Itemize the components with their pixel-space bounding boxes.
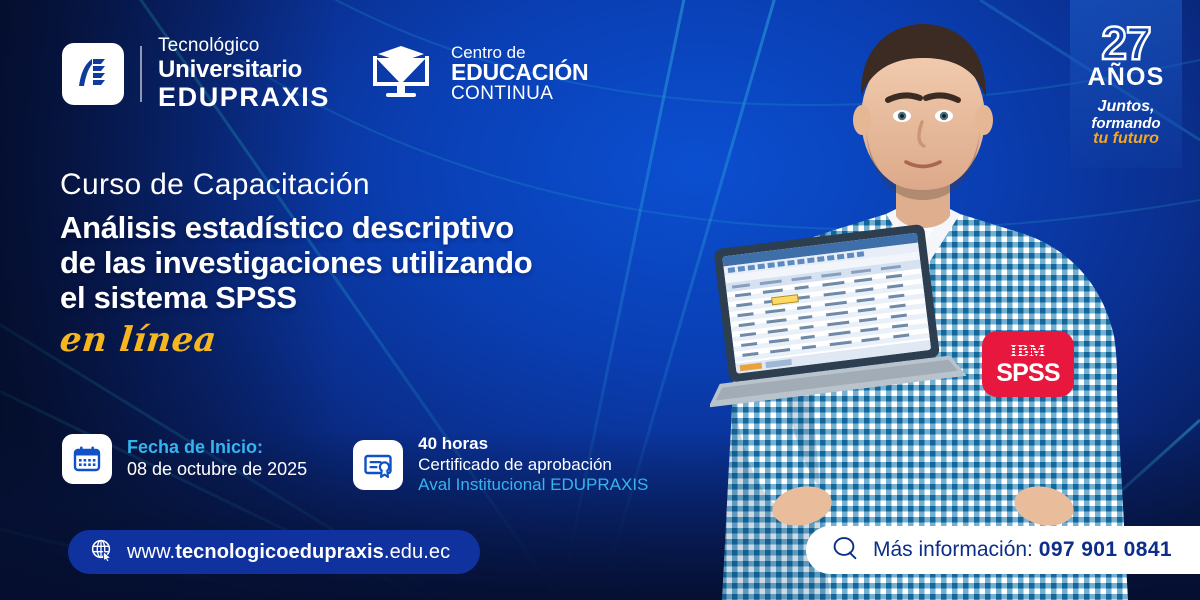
main-copy: Curso de Capacitación Análisis estadísti… — [60, 168, 680, 360]
logo-divider — [140, 46, 142, 102]
spss-wordmark: SPSS — [996, 361, 1060, 386]
contact-bar[interactable]: Más información: 097 901 0841 — [806, 526, 1200, 574]
anniversary-badge: 27 AÑOS Juntos, formando tu futuro — [1070, 0, 1182, 168]
ibm-spss-logo: IBM SPSS — [982, 331, 1074, 397]
certificate-icon — [353, 440, 403, 490]
feature-list: Fecha de Inicio: 08 de octubre de 2025 4… — [62, 434, 648, 496]
course-title-line-3: el sistema SPSS — [60, 280, 680, 315]
logo-line-tecnologico: Tecnológico — [158, 36, 330, 55]
website-bar[interactable]: www.tecnologicoedupraxis.edu.ec — [68, 530, 480, 574]
certificate-type: Certificado de aprobación — [418, 455, 648, 476]
contact-label: Más información: — [873, 538, 1033, 561]
logo-line-edupraxis: EDUPRAXIS — [158, 84, 330, 111]
course-title-line-2: de las investigaciones utilizando — [60, 245, 680, 280]
anniversary-tagline-3: tu futuro — [1093, 131, 1159, 148]
cec-line-continua: CONTINUA — [451, 84, 588, 103]
logo-centro-educacion-continua[interactable]: Centro de EDUCACIÓN CONTINUA — [364, 40, 588, 107]
start-date-label: Fecha de Inicio: — [127, 437, 307, 459]
certificate-endorsement: Aval Institucional EDUPRAXIS — [418, 475, 648, 496]
logo-edupraxis[interactable]: Tecnológico Universitario EDUPRAXIS — [62, 36, 330, 111]
anniversary-tagline-2: formando — [1091, 116, 1160, 131]
feature-certificate: 40 horas Certificado de aprobación Aval … — [353, 434, 648, 496]
graduation-monitor-icon — [364, 40, 438, 107]
contact-phone: 097 901 0841 — [1039, 538, 1172, 561]
header-logos: Tecnológico Universitario EDUPRAXIS — [62, 36, 588, 111]
website-url: www.tecnologicoedupraxis.edu.ec — [127, 541, 450, 564]
website-prefix: www. — [127, 541, 175, 563]
start-date-value: 08 de octubre de 2025 — [127, 459, 307, 481]
contact-text: Más información: 097 901 0841 — [873, 538, 1172, 562]
logo-line-universitario: Universitario — [158, 58, 330, 82]
calendar-icon — [62, 434, 112, 484]
course-title-line-1: Análisis estadístico descriptivo — [60, 210, 680, 245]
course-modality: en línea — [58, 320, 219, 360]
course-kicker: Curso de Capacitación — [60, 168, 680, 202]
ibm-wordmark: IBM — [1010, 342, 1046, 359]
promotional-banner: Tecnológico Universitario EDUPRAXIS — [0, 0, 1200, 600]
certificate-hours: 40 horas — [418, 434, 648, 455]
globe-cursor-icon — [90, 538, 114, 567]
anniversary-tagline-1: Juntos, — [1098, 99, 1155, 115]
course-title: Análisis estadístico descriptivo de las … — [60, 210, 680, 316]
anniversary-unit: AÑOS — [1087, 65, 1164, 90]
anniversary-number: 27 — [1101, 22, 1150, 64]
edupraxis-book-mark-icon — [62, 43, 124, 105]
cec-line-educacion: EDUCACIÓN — [451, 61, 588, 84]
website-suffix: .edu.ec — [384, 541, 450, 563]
chat-bubble-icon — [832, 535, 860, 566]
website-main: tecnologicoedupraxis — [175, 541, 384, 563]
laptop-showing-spss-data-view — [722, 233, 931, 374]
feature-start-date: Fecha de Inicio: 08 de octubre de 2025 — [62, 434, 307, 484]
